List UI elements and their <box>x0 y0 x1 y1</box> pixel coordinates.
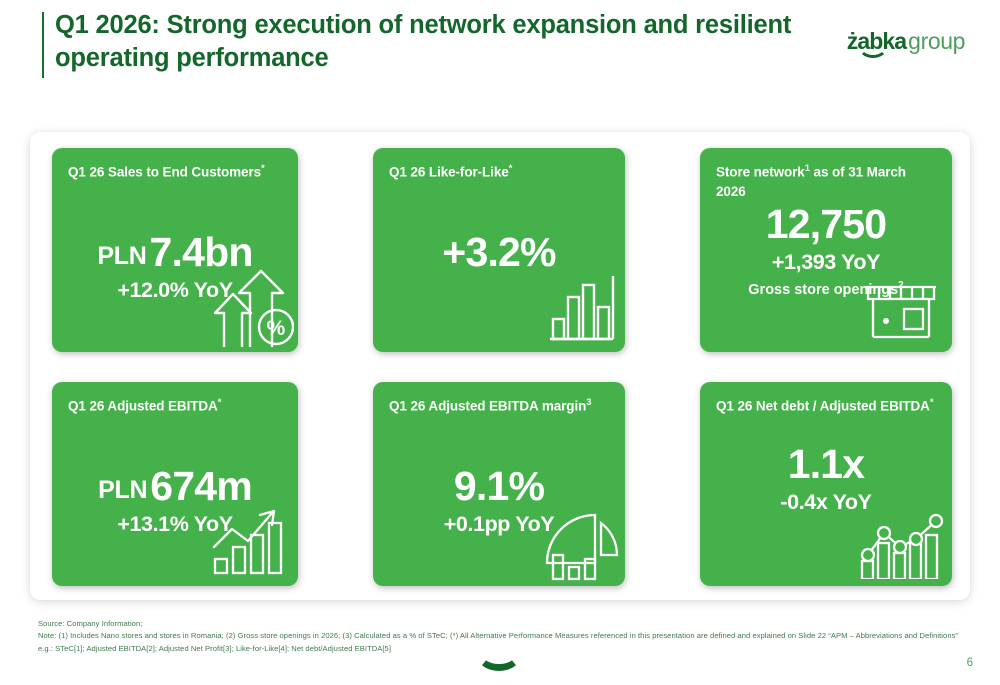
footnotes: Source: Company Information; Note: (1) I… <box>38 618 968 655</box>
kpi-value-number: +3.2% <box>442 229 555 275</box>
kpi-tertiary-note-superscript: 2 <box>898 280 904 291</box>
kpi-card-adjusted-ebitda[interactable]: Q1 26 Adjusted EBITDA* PLN674m +13.1% Yo… <box>52 382 298 586</box>
kpi-card-adjusted-ebitda-margin[interactable]: Q1 26 Adjusted EBITDA margin3 9.1% +0.1p… <box>373 382 625 586</box>
footnote-note: Note: (1) Includes Nano stores and store… <box>38 630 968 642</box>
kpi-primary-value: 1.1x <box>700 444 952 486</box>
kpi-value-number: 674m <box>150 463 252 509</box>
kpi-card-like-for-like[interactable]: Q1 26 Like-for-Like* +3.2% <box>373 148 625 352</box>
kpi-card-label: Q1 26 Adjusted EBITDA margin3 <box>389 396 609 416</box>
kpi-card-label-superscript: * <box>261 163 265 174</box>
kpi-primary-value: 12,750 <box>700 204 952 246</box>
kpi-value-number: 1.1x <box>788 441 865 487</box>
logo-smile-icon <box>858 46 888 58</box>
kpi-primary-value: PLN674m <box>52 466 298 508</box>
slide-header: Q1 2026: Strong execution of network exp… <box>0 0 1000 100</box>
kpi-card-label-text: Q1 26 Adjusted EBITDA <box>68 399 218 414</box>
kpi-card-label: Q1 26 Like-for-Like* <box>389 162 609 182</box>
kpi-card-label-superscript: * <box>930 397 934 408</box>
kpi-card-sales-to-end-customers[interactable]: Q1 26 Sales to End Customers* PLN7.4bn +… <box>52 148 298 352</box>
page-number: 6 <box>967 657 973 669</box>
kpi-value-prefix: PLN <box>97 242 146 270</box>
kpi-primary-value: PLN7.4bn <box>52 232 298 274</box>
kpi-card-body: PLN7.4bn +12.0% YoY <box>52 232 298 305</box>
kpi-card-label-superscript: * <box>218 397 222 408</box>
title-accent-bar <box>42 12 44 78</box>
kpi-secondary-value: +0.1pp YoY <box>373 510 625 539</box>
zabka-group-logo: żabka group <box>847 30 965 64</box>
logo-brand-text: żabka <box>847 30 906 53</box>
kpi-secondary-value: +13.1% YoY <box>52 510 298 539</box>
svg-text:%: % <box>267 317 286 340</box>
kpi-value-number: 9.1% <box>454 463 544 509</box>
kpi-card-body: +3.2% <box>373 232 625 274</box>
kpi-card-label-text: Q1 26 Sales to End Customers <box>68 165 261 180</box>
kpi-value-prefix: PLN <box>98 476 147 504</box>
kpi-value-number: 12,750 <box>766 201 887 247</box>
kpi-primary-value: 9.1% <box>373 466 625 508</box>
kpi-secondary-value: -0.4x YoY <box>700 488 952 517</box>
kpi-card-store-network[interactable]: Store network1 as of 31 March 2026 12,75… <box>700 148 952 352</box>
kpi-secondary-value: +12.0% YoY <box>52 276 298 305</box>
kpi-primary-value: +3.2% <box>373 232 625 274</box>
kpi-value-number: 7.4bn <box>150 229 253 275</box>
kpi-card-body: PLN674m +13.1% YoY <box>52 466 298 539</box>
bar-chart-icon <box>547 273 617 346</box>
kpi-card-label-superscript: 3 <box>586 397 591 408</box>
line-chart-bars-icon <box>858 507 946 584</box>
page-title: Q1 2026: Strong execution of network exp… <box>55 9 845 75</box>
kpi-card-grid: Q1 26 Sales to End Customers* PLN7.4bn +… <box>52 148 952 586</box>
kpi-card-label: Store network1 as of 31 March 2026 <box>716 162 936 202</box>
kpi-card-label: Q1 26 Sales to End Customers* <box>68 162 282 182</box>
kpi-card-label-text: Store network <box>716 165 805 180</box>
kpi-card-label-text: Q1 26 Like-for-Like <box>389 165 509 180</box>
logo-suffix-label: group <box>908 30 965 53</box>
footnote-examples: e.g.: STeC[1]; Adjusted EBITDA[2]; Adjus… <box>38 643 968 655</box>
kpi-card-label-text: Q1 26 Adjusted EBITDA margin <box>389 399 586 414</box>
kpi-card-label: Q1 26 Adjusted EBITDA* <box>68 396 282 416</box>
kpi-card-label-text: Q1 26 Net debt / Adjusted EBITDA <box>716 399 930 414</box>
kpi-card-body: 9.1% +0.1pp YoY <box>373 466 625 539</box>
kpi-secondary-value: +1,393 YoY <box>700 248 952 277</box>
kpi-tertiary-note-text: Gross store openings <box>748 282 898 298</box>
footnote-source: Source: Company Information; <box>38 618 968 630</box>
kpi-card-body: 1.1x -0.4x YoY <box>700 444 952 517</box>
kpi-card-body: 12,750 +1,393 YoY Gross store openings2 <box>700 204 952 300</box>
footer-smile-icon <box>477 655 521 671</box>
kpi-card-label-superscript: * <box>509 163 513 174</box>
kpi-tertiary-note: Gross store openings2 <box>700 279 952 300</box>
kpi-card-net-debt-adjusted-ebitda[interactable]: Q1 26 Net debt / Adjusted EBITDA* 1.1x -… <box>700 382 952 586</box>
kpi-card-label: Q1 26 Net debt / Adjusted EBITDA* <box>716 396 936 416</box>
